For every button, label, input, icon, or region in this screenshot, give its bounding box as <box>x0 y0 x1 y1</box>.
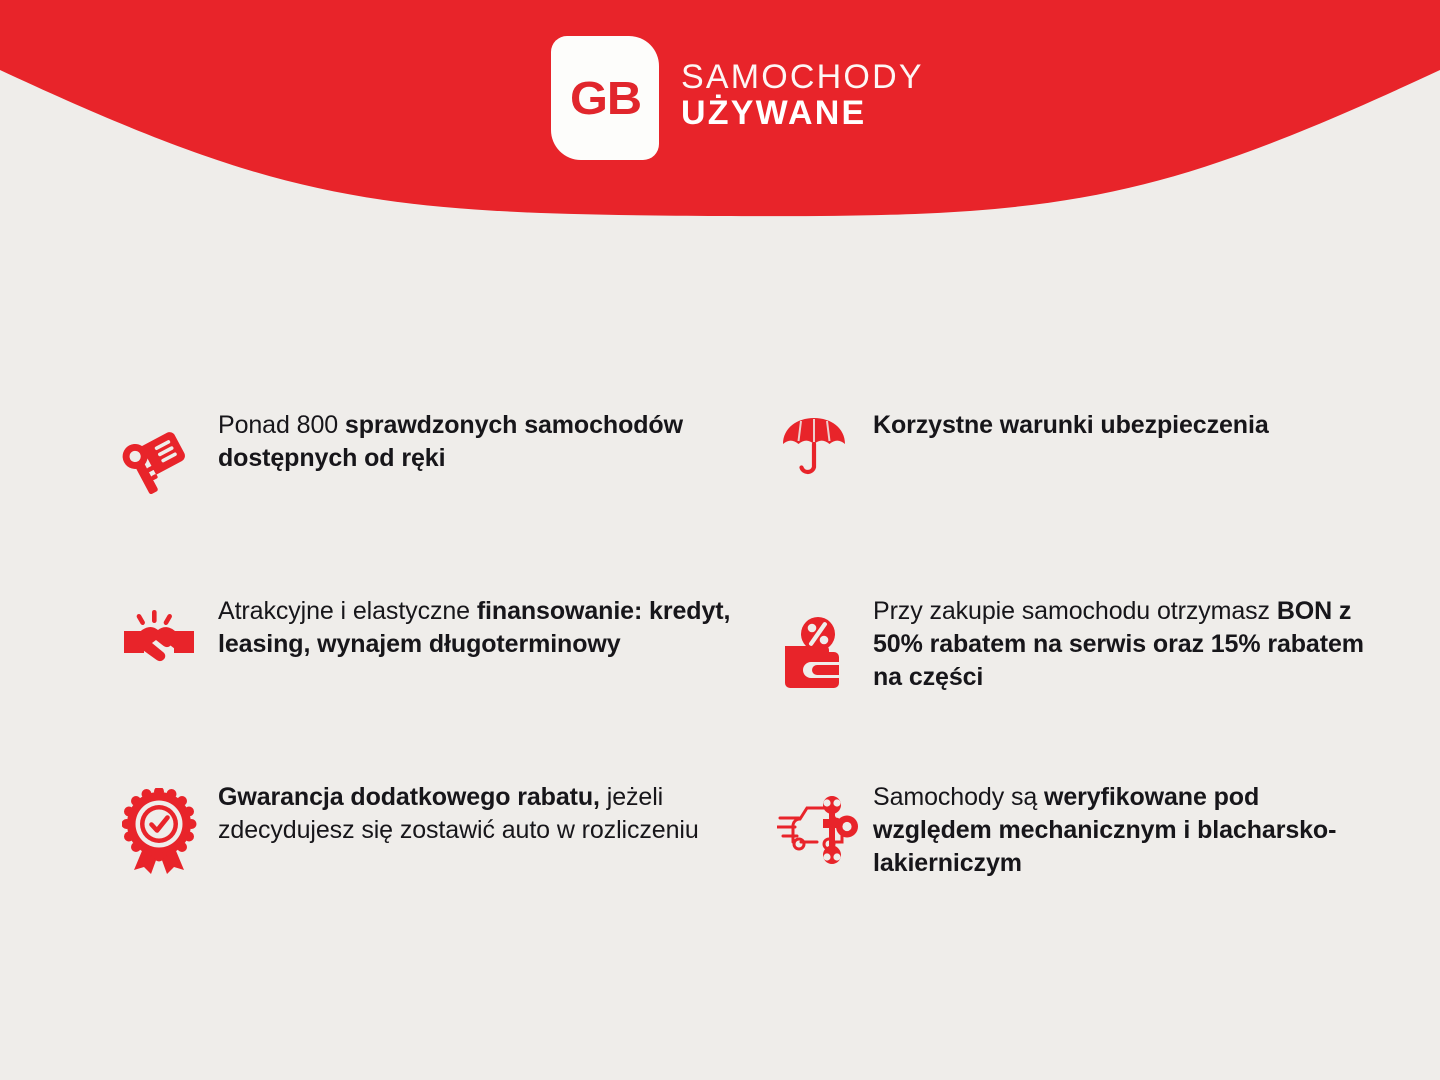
feature-item: Przy zakupie samochodu otrzymasz BON z 5… <box>777 594 1372 780</box>
feature-text: Gwarancja dodatkowego rabatu, jeżeli zde… <box>218 780 777 847</box>
feature-text-lead: Samochody są <box>873 783 1044 811</box>
logo-mark-initials: GB <box>569 75 640 121</box>
feature-text: Samochody są weryfikowane pod względem m… <box>873 780 1372 879</box>
feature-item: Samochody są weryfikowane pod względem m… <box>777 780 1372 966</box>
feature-text: Przy zakupie samochodu otrzymasz BON z 5… <box>873 594 1372 693</box>
feature-item: Gwarancja dodatkowego rabatu, jeżeli zde… <box>122 780 777 966</box>
award-ribbon-check-icon <box>122 780 218 874</box>
feature-text: Atrakcyjne i elastyczne finansowanie: kr… <box>218 594 777 661</box>
logo-lockup[interactable]: GB SAMOCHODY UŻYWANE <box>551 28 951 168</box>
logo-wordmark: SAMOCHODY UŻYWANE <box>681 60 924 135</box>
feature-text: Ponad 800 sprawdzonych samochodów dostęp… <box>218 408 777 475</box>
logo-wordmark-line-1: SAMOCHODY <box>681 60 924 95</box>
feature-item: Atrakcyjne i elastyczne finansowanie: kr… <box>122 594 777 780</box>
feature-item: Korzystne warunki ubezpieczenia <box>777 408 1372 594</box>
umbrella-icon <box>777 408 873 484</box>
features-grid: Ponad 800 sprawdzonych samochodów dostęp… <box>122 408 1372 966</box>
feature-item: Ponad 800 sprawdzonych samochodów dostęp… <box>122 408 777 594</box>
feature-text-lead: Atrakcyjne i elastyczne <box>218 597 477 625</box>
feature-text-lead: Ponad 800 <box>218 411 345 439</box>
feature-text-bold: Gwarancja dodatkowego rabatu, <box>218 783 600 811</box>
handshake-icon <box>122 594 218 682</box>
feature-text: Korzystne warunki ubezpieczenia <box>873 408 1269 442</box>
feature-text-lead: Przy zakupie samochodu otrzymasz <box>873 597 1277 625</box>
feature-text-bold: Korzystne warunki ubezpieczenia <box>873 411 1269 439</box>
logo-wordmark-line-2: UŻYWANE <box>681 95 924 132</box>
wallet-percent-icon <box>777 594 873 696</box>
car-wrench-gear-icon <box>777 780 873 870</box>
logo-mark-tile: GB <box>551 36 659 160</box>
key-with-tag-icon <box>122 408 218 500</box>
